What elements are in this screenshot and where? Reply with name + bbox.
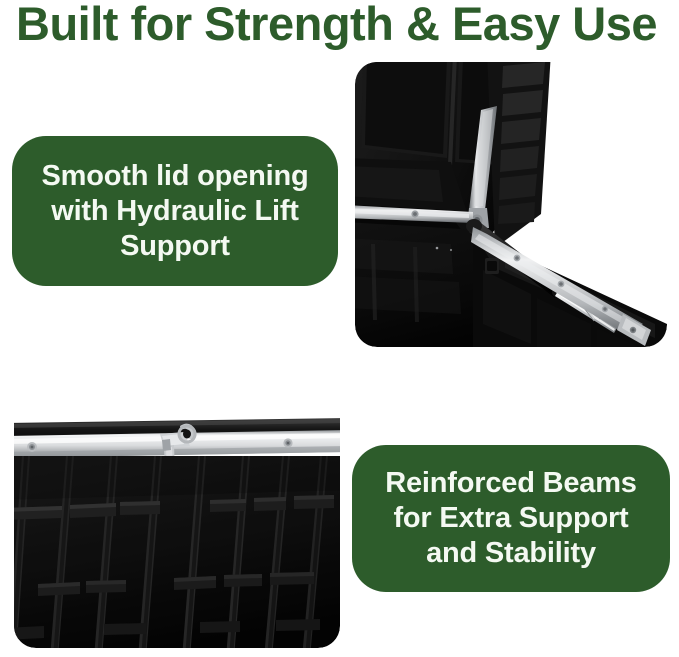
reinforced-beams-illustration bbox=[14, 360, 340, 648]
page-title: Built for Strength & Easy Use bbox=[16, 0, 676, 50]
photo-hydraulic-lift bbox=[355, 62, 667, 347]
callout-line-2: with Hydraulic Lift bbox=[51, 195, 299, 227]
callout-reinforced-beams-text: Reinforced Beams for Extra Support and S… bbox=[371, 466, 650, 571]
callout-line-1: Reinforced Beams bbox=[385, 467, 636, 499]
callout-line-3: Support bbox=[120, 230, 230, 262]
callout-reinforced-beams: Reinforced Beams for Extra Support and S… bbox=[352, 445, 670, 592]
photo-reinforced-beams bbox=[14, 360, 340, 648]
callout-smooth-lid-opening-text: Smooth lid opening with Hydraulic Lift S… bbox=[27, 159, 322, 264]
callout-line-1: Smooth lid opening bbox=[41, 160, 308, 192]
callout-line-3: and Stability bbox=[426, 537, 596, 569]
callout-line-2: for Extra Support bbox=[393, 502, 628, 534]
callout-smooth-lid-opening: Smooth lid opening with Hydraulic Lift S… bbox=[12, 136, 338, 286]
hydraulic-lift-illustration bbox=[355, 62, 667, 347]
